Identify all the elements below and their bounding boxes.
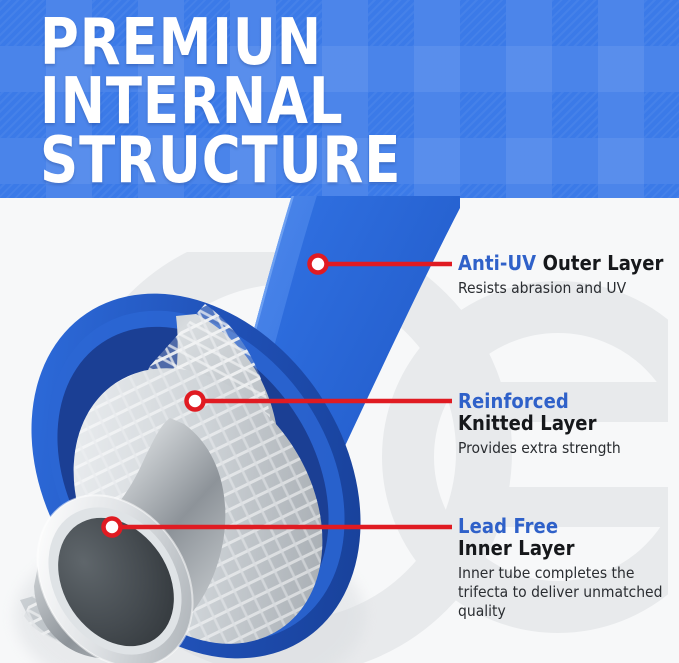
callout-inner-layer-highlight: Lead Free (458, 514, 558, 538)
infographic-root: PREMIUN INTERNAL STRUCTURE (0, 0, 679, 663)
callout-outer-layer: Anti-UV Outer Layer Resists abrasion and… (458, 253, 673, 298)
callout-knitted-layer-title: ReinforcedKnitted Layer (458, 390, 673, 435)
callout-outer-layer-description: Resists abrasion and UV (458, 279, 673, 298)
callout-outer-layer-highlight: Anti-UV (458, 251, 536, 275)
page-title: PREMIUN INTERNAL STRUCTURE (40, 14, 620, 191)
header-banner: PREMIUN INTERNAL STRUCTURE (0, 0, 679, 198)
callout-knitted-layer-description: Provides extra strength (458, 439, 673, 458)
callout-knitted-layer: ReinforcedKnitted Layer Provides extra s… (458, 390, 673, 458)
callout-outer-layer-title: Anti-UV Outer Layer (458, 253, 673, 275)
callout-inner-layer: Lead FreeInner Layer Inner tube complete… (458, 515, 673, 621)
callout-knitted-layer-highlight: Reinforced (458, 389, 569, 413)
hose-cutaway-illustration (0, 196, 460, 663)
callout-inner-layer-rest: Inner Layer (458, 536, 575, 560)
callout-outer-layer-rest: Outer Layer (536, 251, 663, 275)
callout-inner-layer-title: Lead FreeInner Layer (458, 515, 673, 560)
callout-inner-layer-description: Inner tube completes the trifecta to del… (458, 564, 673, 621)
callout-knitted-layer-rest: Knitted Layer (458, 411, 597, 435)
